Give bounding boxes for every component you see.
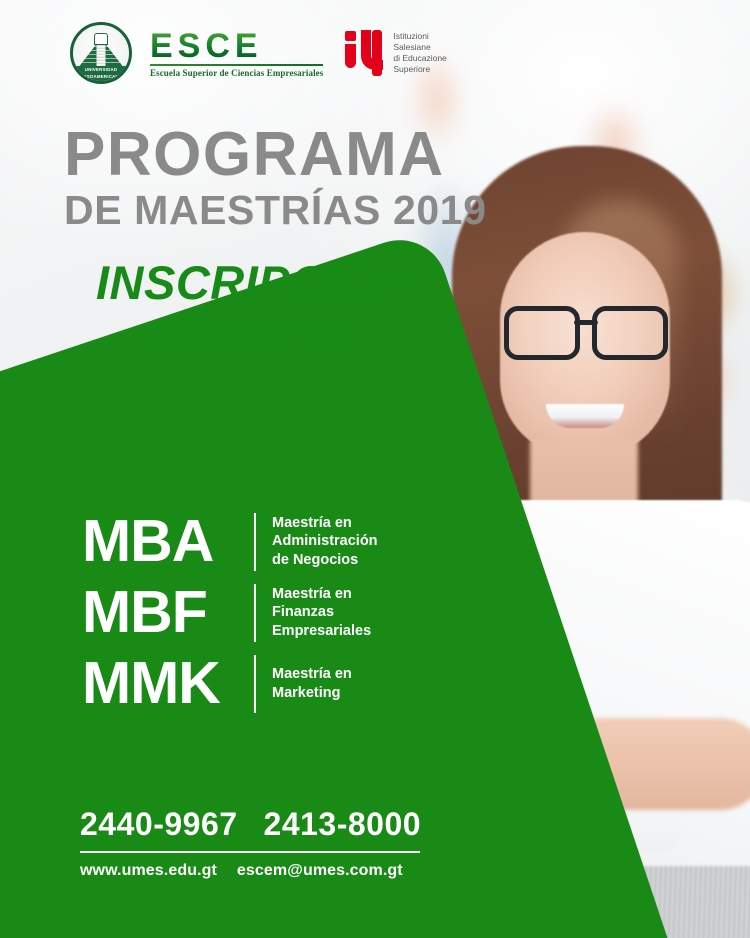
seal-line-1: UNIVERSIDAD — [73, 67, 129, 74]
program-divider — [254, 584, 256, 642]
programs-list: MBA Maestría en Administración de Negoci… — [82, 512, 378, 725]
headline-block: PROGRAMA DE MAESTRÍAS 2019 — [64, 126, 487, 234]
eyeglasses-right-lens — [592, 306, 668, 360]
salesian-line-1: Istituzioni — [393, 31, 446, 42]
eyeglasses-icon — [504, 306, 668, 354]
salesian-line-4: Superiore — [393, 64, 446, 75]
website-link[interactable]: www.umes.edu.gt — [80, 862, 217, 880]
program-desc-mmk: Maestría en Marketing — [272, 665, 352, 701]
salesian-mark-dot — [345, 31, 356, 41]
web-contact-row: www.umes.edu.gt escem@umes.com.gt — [80, 862, 421, 880]
program-divider — [254, 513, 256, 571]
callout-line-1: INSCRIPCIÓN — [96, 256, 410, 309]
email-link[interactable]: escem@umes.com.gt — [237, 862, 403, 880]
contact-block: 2440-9967 2413-8000 www.umes.edu.gt esce… — [80, 806, 421, 880]
headline-programa: PROGRAMA — [64, 126, 487, 183]
woman-smile — [546, 404, 624, 428]
esce-wordmark: ESCE — [150, 29, 323, 63]
salesian-mark-tail — [372, 30, 382, 76]
program-desc-line: Finanzas — [272, 603, 371, 621]
salesian-mark-stem — [345, 44, 356, 68]
poster-root: UNIVERSIDAD MESOAMERICANA ESCE Escuela S… — [0, 0, 750, 938]
phone-number-1[interactable]: 2440-9967 — [80, 806, 238, 843]
seal-band: UNIVERSIDAD MESOAMERICANA — [73, 66, 129, 81]
esce-subtitle: Escuela Superior de Ciencias Empresarial… — [150, 68, 323, 78]
program-desc-line: Maestría en — [272, 514, 378, 532]
program-desc-line: Empresariales — [272, 622, 371, 640]
program-code-mba: MBA — [82, 512, 254, 571]
universidad-mesoamericana-seal-icon: UNIVERSIDAD MESOAMERICANA — [70, 22, 132, 84]
contact-divider — [80, 851, 420, 853]
seal-line-2: MESOAMERICANA — [73, 74, 129, 81]
program-desc-line: de Negocios — [272, 551, 378, 569]
program-row-mba[interactable]: MBA Maestría en Administración de Negoci… — [82, 512, 378, 571]
headline-maestrias-year: DE MAESTRÍAS 2019 — [64, 187, 487, 234]
program-desc-line: Marketing — [272, 684, 352, 702]
program-desc-mbf: Maestría en Finanzas Empresariales — [272, 585, 371, 639]
program-divider — [254, 655, 256, 713]
temple-top-icon — [94, 33, 108, 45]
phone-number-2[interactable]: 2413-8000 — [264, 806, 422, 843]
salesian-text-block: Istituzioni Salesiane di Educazione Supe… — [393, 31, 446, 75]
callout-inscripcion-abierta: INSCRIPCIÓN ABIERTA — [96, 258, 410, 360]
callout-line-2: ABIERTA — [96, 309, 410, 360]
program-desc-line: Administración — [272, 532, 378, 550]
program-desc-line: Maestría en — [272, 665, 352, 683]
program-desc-line: Maestría en — [272, 585, 371, 603]
program-row-mmk[interactable]: MMK Maestría en Marketing — [82, 654, 378, 713]
salesian-line-2: Salesiane — [393, 42, 446, 53]
phone-numbers: 2440-9967 2413-8000 — [80, 806, 421, 843]
salesian-iu-mark-icon — [341, 30, 385, 76]
istituzioni-salesiane-logo: Istituzioni Salesiane di Educazione Supe… — [341, 30, 446, 76]
program-row-mbf[interactable]: MBF Maestría en Finanzas Empresariales — [82, 583, 378, 642]
program-code-mbf: MBF — [82, 583, 254, 642]
program-code-mmk: MMK — [82, 654, 254, 713]
eyeglasses-left-lens — [504, 306, 580, 360]
logo-bar: UNIVERSIDAD MESOAMERICANA ESCE Escuela S… — [70, 22, 447, 84]
salesian-line-3: di Educazione — [393, 53, 446, 64]
esce-logo: ESCE Escuela Superior de Ciencias Empres… — [150, 29, 323, 78]
program-desc-mba: Maestría en Administración de Negocios — [272, 514, 378, 568]
